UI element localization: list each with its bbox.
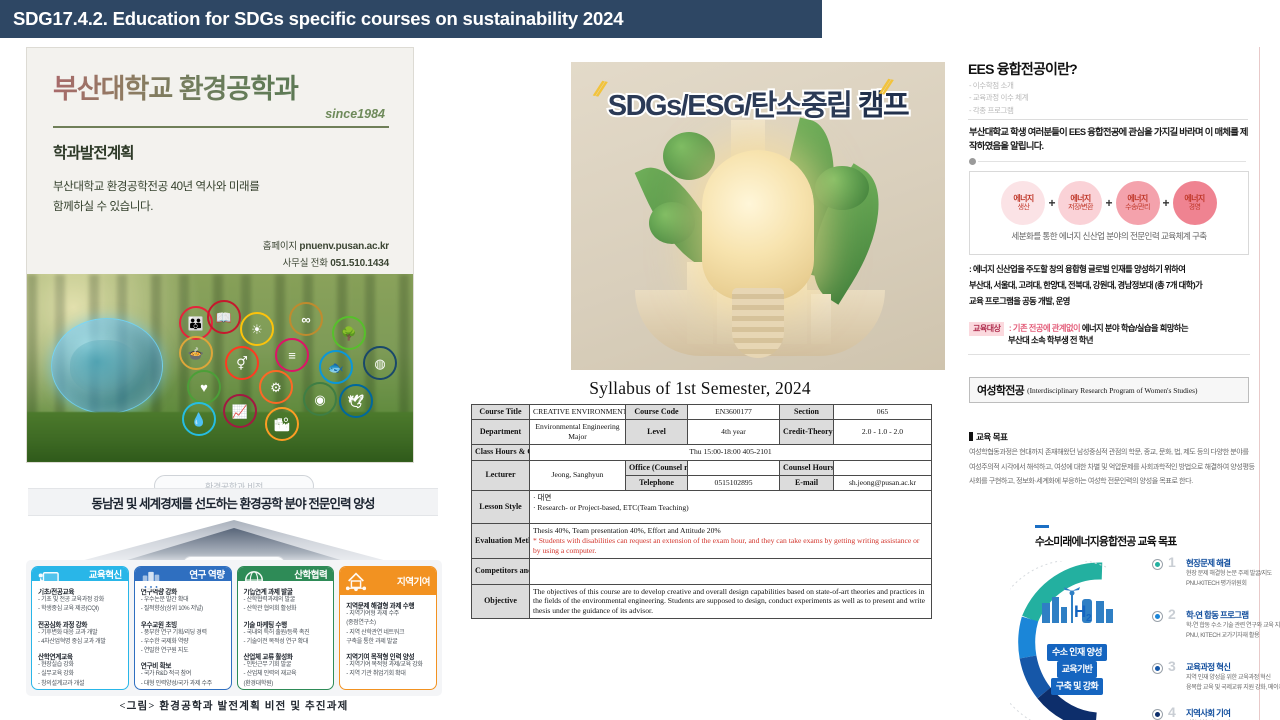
h2-goals-diagram: H 2 수소 인재 양성교육기반구축 및 강화 1현장문제 해결현장 문제 해결… — [996, 547, 1260, 720]
vision-card-bullet: (환경대학원) — [244, 680, 329, 689]
ees-divider-2 — [968, 354, 1250, 355]
level-label: Level — [626, 420, 688, 445]
table-row: Competitors and Knowledge — [472, 558, 932, 584]
sdg-goal-glyph: 🏙 — [274, 418, 291, 431]
poster-since: since1984 — [53, 107, 389, 121]
goal-body: 여성학협동과정은 현대까지 존재해왔던 남성중심적 관점의 학문, 종교, 문화… — [969, 445, 1255, 489]
ees-body-line: 교육 프로그램을 공동 개발, 운영 — [969, 293, 1255, 309]
lightbulb-icon — [702, 150, 814, 300]
lesson-style-value: · 대면 · Research- or Project-based, ETC(T… — [530, 491, 932, 524]
table-row: Objective The objectives of this course … — [472, 584, 932, 619]
h2-goal-number: 4 — [1168, 704, 1176, 720]
sdg-goal-glyph: 💧 — [191, 413, 207, 426]
ees-body-line: 부산대, 서울대, 고려대, 한양대, 전북대, 강원대, 경남정보대 (총 7… — [969, 277, 1255, 293]
sdgs-esg-camp-poster: // // SDGs/ESG/탄소중립 캠프 — [571, 62, 945, 370]
poster-body-line-2: 함께하실 수 있습니다. — [53, 197, 389, 217]
office-label: Office (Counsel room) — [626, 460, 688, 475]
h2-title-dash — [1035, 525, 1049, 528]
goal-heading-text: 교육 목표 — [976, 432, 1008, 442]
objective-value: The objectives of this course are to dev… — [530, 584, 932, 619]
competitors-value — [530, 558, 932, 584]
table-row: Evaluation Method Thesis 40%, Team prese… — [472, 524, 932, 559]
ees-sub-item: - 이수학점 소개 — [969, 80, 1028, 92]
lesson-style-line-1: · 대면 — [533, 493, 928, 503]
vision-card-bullet: 구축을 통한 과제 발굴 — [346, 638, 431, 647]
womens-studies-kr: 여성학전공 — [977, 382, 1024, 398]
sdg-goal-glyph: ♥ — [200, 381, 208, 394]
sdg-goal-3-icon: ♥ — [187, 370, 221, 404]
lesson-style-line-2: · Research- or Project-based, ETC(Team T… — [533, 503, 928, 513]
sdg-goal-glyph: 👪 — [188, 317, 204, 330]
table-row: Department Environmental Engineering Maj… — [472, 420, 932, 445]
sdg-goal-glyph: 📈 — [232, 405, 248, 418]
h2-goal-sub-2: PNU, KITECH 교가기자재 활용 — [1174, 631, 1280, 641]
camp-title-en: SDGs/ESG/탄소중립 — [608, 90, 852, 122]
department-label: Department — [472, 420, 530, 445]
h2-goal-title: 학-연 합동 프로그램 — [1174, 609, 1280, 621]
womens-studies-en: (Interdisciplinary Research Program of W… — [1027, 386, 1197, 395]
ees-energy-box: 에너지생산+에너지저장/변환+에너지수송/관리+에너지경영 세분화를 통한 에너… — [969, 171, 1249, 255]
plus-icon: + — [1163, 196, 1170, 210]
course-title-label: Course Title — [472, 405, 530, 420]
h2-goal-sub-1: 학-연 합동 수소 기술 관련 연구와 교육 지원 프로그램 개발 — [1174, 621, 1280, 631]
homepage-value: pnuenv.pusan.ac.kr — [299, 241, 389, 252]
h2-goal-dot-icon — [1152, 663, 1163, 674]
vision-card-group-title: 연구비 확보 — [141, 660, 226, 670]
sdg-goal-glyph: ⚙ — [270, 381, 282, 394]
poster-body-line-1: 부산대학교 환경공학전공 40년 역사와 미래를 — [53, 177, 389, 197]
h2-center-badges: 수소 인재 양성교육기반구축 및 강화 — [1034, 591, 1120, 699]
ees-target-text: : 기존 전공에 관계없이 에너지 분야 학습/실습을 희망하는 — [1009, 323, 1188, 333]
ees-heading: EES 융합전공이란? — [968, 59, 1077, 79]
sdg-goal-glyph: 🕊 — [348, 395, 365, 408]
sdg-goal-glyph: ≡ — [288, 349, 296, 362]
vision-card-group-title: 기술 마케팅 수행 — [244, 619, 329, 629]
vision-card-bullet: - 기초 및 전공 교육과정 강화 — [38, 596, 123, 605]
evaluation-note: * Students with disabilities can request… — [533, 536, 928, 556]
vision-card-body: 기초/전공교육- 기초 및 전공 교육과정 강화- 학생중심 교육 제공(CQI… — [32, 581, 128, 690]
vision-card-group-title: 지역기여 목적형 인력 양성 — [346, 651, 431, 661]
square-bullet-icon — [969, 432, 973, 441]
h2-goal-4: 4지역사회 기여지역사회 기여도 제고RISE 체계 기반 지산학협력센터와 협… — [1174, 707, 1280, 720]
vision-card-group: 교육혁신기초/전공교육- 기초 및 전공 교육과정 강화- 학생중심 교육 제공… — [26, 560, 442, 696]
vision-card-bullet: - 국가 R&D 적극 참여 — [141, 670, 226, 679]
circle-top-label: 에너지 — [1070, 194, 1090, 204]
ees-body-text: : 에너지 신산업을 주도할 창의 융합형 글로벌 인재를 양성하기 위하여부산… — [969, 261, 1255, 310]
ees-circle-group: 에너지생산+에너지저장/변환+에너지수송/관리+에너지경영 — [970, 172, 1248, 225]
circle-bottom-label: 생산 — [1018, 204, 1030, 213]
office-phone-value: 051.510.1434 — [330, 258, 389, 269]
ees-energy-circle-4: 에너지경영 — [1173, 181, 1217, 225]
sdg-goal-4-icon: 📖 — [207, 300, 241, 334]
vision-card-bullet: - 기술이전 목적성 연구 확대 — [244, 638, 329, 647]
vision-card-bullet: - 지역기여형 과제 수주 — [346, 610, 431, 619]
vision-card-4: 지역기여지역문제 해결형 과제 수행- 지역기여형 과제 수주(중점연구소)- … — [339, 566, 437, 690]
office-value — [688, 460, 780, 475]
vision-card-title: 연구 역량 — [189, 567, 224, 581]
credit-value: 2.0 - 1.0 - 2.0 — [834, 420, 932, 445]
ees-sub-item: - 교육과정 이수 체계 — [969, 92, 1028, 104]
vision-card-bullet: - 국내외 특허 출원/등록 촉진 — [244, 629, 329, 638]
sdg-goal-2-icon: 🍲 — [179, 336, 213, 370]
ees-body-line: : 에너지 신산업을 주도할 창의 융합형 글로벌 인재를 양성하기 위하여 — [969, 261, 1255, 277]
h2-goal-1: 1현장문제 해결현장 문제 해결형 논문 주제 발굴/지도PNU-KITECH … — [1174, 557, 1280, 589]
network-icon — [243, 570, 265, 592]
ees-target-pink: : 기존 전공에 관계없이 — [1009, 323, 1080, 333]
vision-card-title: 산학협력 — [294, 567, 327, 581]
lecturer-label: Lecturer — [472, 460, 530, 491]
syllabus-title: Syllabus of 1st Semester, 2024 — [466, 378, 934, 399]
h2-goal-sub-2: 융복합 교육 및 국제교류 지원 강화, 메이커 교육, 캡실 등 — [1174, 683, 1280, 693]
email-value: sh.jeong@pusan.ac.kr — [834, 475, 932, 490]
ees-sub-item: - 각종 프로그램 — [969, 105, 1028, 117]
syllabus-table-wrap: Course Title CREATIVE ENVIRONMENTAL ENGI… — [471, 404, 931, 619]
vision-card-2: 연구 역량연구역량 강화- 우수논문 발간 확대- 질적향상(상위 10% 저널… — [134, 566, 232, 690]
vision-card-bullet: - 우수한 국제화 역량 — [141, 638, 226, 647]
vision-card-group-title: 우수교원 초빙 — [141, 619, 226, 629]
h2-goal-number: 2 — [1168, 606, 1176, 622]
vision-card-bullet: - 학생중심 교육 제공(CQI) — [38, 605, 123, 614]
sdg-goal-7-icon: ☀ — [240, 312, 274, 346]
vision-card-bullet: - 대형 인력양성/국가 과제 수주 — [141, 680, 226, 689]
competitors-label: Competitors and Knowledge — [472, 558, 530, 584]
vision-card-body: 지역문제 해결형 과제 수행- 지역기여형 과제 수주(중점연구소)- 지역 산… — [340, 595, 436, 683]
h2-center-badge: 구축 및 강화 — [1051, 678, 1103, 695]
sdg-goal-glyph: 🐟 — [328, 361, 344, 374]
vision-card-header: 지역기여 — [340, 567, 436, 595]
table-row: Class Hours & Classroom Thu 15:00-18:00 … — [472, 445, 932, 460]
email-label: E-mail — [780, 475, 834, 490]
poster-heading: 부산대학교 환경공학과 — [53, 74, 389, 105]
table-row: Course Title CREATIVE ENVIRONMENTAL ENGI… — [472, 405, 932, 420]
objective-label: Objective — [472, 584, 530, 619]
sdg-goal-glyph: 🌳 — [341, 327, 357, 340]
vision-card-bullet: - 질적향상(상위 10% 저널) — [141, 605, 226, 614]
circle-top-label: 에너지 — [1184, 194, 1204, 204]
syllabus-table: Course Title CREATIVE ENVIRONMENTAL ENGI… — [471, 404, 932, 619]
h2-goal-number: 1 — [1168, 554, 1176, 570]
sdg-goal-glyph: ☀ — [251, 323, 263, 336]
table-row: Lecturer Jeong, Sanghyun Office (Counsel… — [472, 460, 932, 475]
target-tag-badge: 교육대상 — [969, 322, 1004, 336]
sdg-goal-glyph: ◍ — [374, 357, 385, 370]
sdg-goal-6-icon: 💧 — [182, 402, 216, 436]
h2-center-badge: 수소 인재 양성 — [1047, 644, 1107, 661]
vision-card-bullet: - 산업체 인력의 재교육 — [244, 670, 329, 679]
vision-card-bullet: - 지역 산학관연 네트워크 — [346, 629, 431, 638]
sdg-goal-17-icon: ◍ — [363, 346, 397, 380]
h2-goal-sub-1: 지역 인재 양성을 위한 교육과정 혁신 — [1174, 673, 1280, 683]
vision-card-group-title: 지역문제 해결형 과제 수행 — [346, 600, 431, 610]
sdg-goal-16-icon: 🕊 — [339, 384, 373, 418]
course-code-value: EN3600177 — [688, 405, 780, 420]
h2-goal-3: 3교육과정 혁신지역 인재 양성을 위한 교육과정 혁신융복합 교육 및 국제교… — [1174, 661, 1280, 693]
vision-card-bullet: - 풍부한 연구 기획/리딩 경력 — [141, 629, 226, 638]
h2-center-badge: 교육기반 — [1057, 661, 1098, 678]
h2-goal-dot-icon — [1152, 709, 1163, 720]
sdg-goal-8-icon: 📈 — [223, 394, 257, 428]
h2-goal-sub-2: PNU-KITECH 평가위원회 — [1174, 579, 1280, 589]
telephone-label: Telephone — [626, 475, 688, 490]
evaluation-line-1: Thesis 40%, Team presentation 40%, Effor… — [533, 526, 928, 536]
sdg-goal-11-icon: 🏙 — [265, 407, 299, 441]
circle-bottom-label: 수송/관리 — [1125, 204, 1150, 213]
section-label: Section — [780, 405, 834, 420]
camp-title: SDGs/ESG/탄소중립 캠프 — [571, 82, 945, 124]
moss-foreground — [27, 412, 414, 462]
level-value: 4th year — [688, 420, 780, 445]
credit-label: Credit-Theory – Practice — [780, 420, 834, 445]
ees-energy-circle-3: 에너지수송/관리 — [1116, 181, 1160, 225]
department-poster: 부산대학교 환경공학과 since1984 학과발전계획 부산대학교 환경공학전… — [26, 47, 414, 463]
vision-card-bullet: - 지역기여 목적형 과제/교육 강화 — [346, 661, 431, 670]
vision-card-group-title: 산학연계교육 — [38, 651, 123, 661]
h2-goal-2: 2학-연 합동 프로그램학-연 합동 수소 기술 관련 연구와 교육 지원 프로… — [1174, 609, 1280, 641]
vision-card-3: 산학협력기업연계 과제 발굴- 산학협력과제의 발굴- 산학관 협의회 활성화기… — [237, 566, 335, 690]
poster-homepage-row: 홈페이지 pnuenv.pusan.ac.kr — [53, 239, 389, 256]
ees-dot-rule — [978, 161, 1246, 162]
sdg-goal-glyph: ◉ — [314, 393, 325, 406]
poster-phone-row: 사무실 전화 051.510.1434 — [53, 256, 389, 273]
h2-goal-title: 지역사회 기여 — [1174, 707, 1280, 719]
globe-icon — [51, 318, 163, 414]
ees-box-caption: 세분화를 통한 에너지 신산업 분야의 전문인력 교육체계 구축 — [970, 230, 1248, 242]
sdg-goal-14-icon: 🐟 — [319, 350, 353, 384]
page-title: SDG17.4.2. Education for SDGs specific c… — [0, 8, 623, 30]
vision-card-bullet: - 기후변화 대응 교과 개발 — [38, 629, 123, 638]
vision-card-body: 연구역량 강화- 우수논문 발간 확대- 질적향상(상위 10% 저널)우수교원… — [135, 581, 231, 690]
vision-card-bullet: - 우수논문 발간 확대 — [141, 596, 226, 605]
bullet-dot-icon — [969, 158, 976, 165]
vision-card-bullet: - 산학관 협의회 활성화 — [244, 605, 329, 614]
vision-card-title: 지역기여 — [397, 574, 430, 588]
vision-card-header: 교육혁신 — [32, 567, 128, 581]
circle-bottom-label: 저장/변환 — [1068, 204, 1093, 213]
microscope-icon — [140, 570, 162, 592]
circle-bottom-label: 경영 — [1189, 204, 1201, 213]
screenshot-root: SDG17.4.2. Education for SDGs specific c… — [0, 0, 1280, 720]
tree-icon — [815, 166, 869, 210]
slide-header-bar: SDG17.4.2. Education for SDGs specific c… — [0, 0, 822, 38]
vision-card-bullet: - 산학협력과제의 발굴 — [244, 596, 329, 605]
tree-icon — [649, 202, 695, 244]
poster-subheading: 학과발전계획 — [53, 141, 389, 163]
course-title-value: CREATIVE ENVIRONMENTAL ENGINEERING PRO — [530, 405, 626, 420]
vision-caption: <그림> 환경공학과 발전계획 비전 및 추진과제 — [22, 698, 446, 713]
sdg-goal-glyph: 📖 — [216, 311, 232, 324]
ees-divider — [968, 119, 1248, 120]
h2-goal-title: 교육과정 혁신 — [1174, 661, 1280, 673]
circle-top-label: 에너지 — [1127, 194, 1147, 204]
ees-target-line-2: 부산대 소속 학부생 전 학년 — [1008, 334, 1093, 346]
sdg-goal-13-icon: ◉ — [303, 382, 337, 416]
vision-card-group-title: 산업체 교류 활성화 — [244, 651, 329, 661]
class-hours-value: Thu 15:00-18:00 405-2101 — [530, 445, 932, 460]
lecturer-value: Jeong, Sanghyun — [530, 460, 626, 491]
department-value: Environmental Engineering Major — [530, 420, 626, 445]
sdg-goal-10-icon: ≡ — [275, 338, 309, 372]
poster-divider — [53, 126, 389, 128]
ees-target-rest: 에너지 분야 학습/실습을 희망하는 — [1080, 323, 1188, 333]
h2-goal-number: 3 — [1168, 658, 1176, 674]
counsel-hours-label: Counsel Hours — [780, 460, 834, 475]
lesson-style-label: Lesson Style — [472, 491, 530, 524]
sdg-goal-glyph: ∞ — [301, 313, 310, 326]
building-icon — [811, 294, 831, 344]
table-row: Lesson Style · 대면 · Research- or Project… — [472, 491, 932, 524]
vision-card-body: 기업연계 과제 발굴- 산학협력과제의 발굴- 산학관 협의회 활성화기술 마케… — [238, 581, 334, 690]
vision-banner: 동남권 및 세계경제를 선도하는 환경공학 분야 전문인력 양성 — [28, 488, 438, 516]
telephone-value: 0515102895 — [688, 475, 780, 490]
vision-card-bullet: - 연밀한 연구원 지도 — [141, 647, 226, 656]
sdg-goal-glyph: ⚥ — [236, 357, 248, 370]
vision-card-bullet: (중점연구소) — [346, 619, 431, 628]
h2-goal-dot-icon — [1152, 559, 1163, 570]
homepage-label: 홈페이지 — [263, 241, 297, 252]
home-network-icon — [345, 570, 367, 592]
ees-energy-circle-1: 에너지생산 — [1001, 181, 1045, 225]
poster-body: 부산대학교 환경공학전공 40년 역사와 미래를 함께하실 수 있습니다. — [53, 177, 389, 217]
tree-icon — [663, 132, 715, 180]
h2-goal-title: 현장문제 해결 — [1174, 557, 1280, 569]
plus-icon: + — [1105, 196, 1112, 210]
poster-text-block: 부산대학교 환경공학과 since1984 학과발전계획 부산대학교 환경공학전… — [27, 48, 413, 272]
ees-major-panel: EES 융합전공이란? - 이수학점 소개- 교육과정 이수 체계- 각종 프로… — [960, 47, 1260, 720]
lightbulb-base-icon — [732, 288, 784, 358]
evaluation-label: Evaluation Method — [472, 524, 530, 559]
plus-icon: + — [1048, 196, 1055, 210]
counsel-hours-value — [834, 460, 932, 475]
evaluation-value: Thesis 40%, Team presentation 40%, Effor… — [530, 524, 932, 559]
vision-card-bullet: - 현장실습 강화 — [38, 661, 123, 670]
vision-card-header: 연구 역량 — [135, 567, 231, 581]
vision-card-bullet: - 4차산업혁명 중심 교과 개발 — [38, 638, 123, 647]
department-vision-diagram: 환경공학과 비전 동남권 및 세계경제를 선도하는 환경공학 분야 전문인력 양… — [22, 472, 446, 716]
sdg-goal-glyph: 🍲 — [188, 347, 204, 360]
goal-heading: 교육 목표 — [969, 431, 1008, 443]
office-label: 사무실 전화 — [283, 258, 328, 269]
vision-card-bullet: (BK21 four) — [141, 689, 226, 690]
sdg-goal-12-icon: ∞ — [289, 302, 323, 336]
ees-intro: 부산대학교 학생 여러분들이 EES 융합전공에 관심을 가지길 바라며 이 매… — [969, 125, 1249, 154]
vision-card-bullet: - 인턴근무 기회 발굴 — [244, 661, 329, 670]
vision-card-bullet: - 창의설계교과 개설 — [38, 680, 123, 689]
vision-card-header: 산학협력 — [238, 567, 334, 581]
sdg-goal-9-icon: ⚙ — [259, 370, 293, 404]
poster-contact: 홈페이지 pnuenv.pusan.ac.kr 사무실 전화 051.510.1… — [53, 239, 389, 272]
course-code-label: Course Code — [626, 405, 688, 420]
ees-subitems: - 이수학점 소개- 교육과정 이수 체계- 각종 프로그램 — [969, 80, 1028, 117]
class-hours-label: Class Hours & Classroom — [472, 445, 530, 460]
teacher-icon — [37, 570, 59, 592]
circle-top-label: 에너지 — [1013, 194, 1033, 204]
sdg-goals-photo: 👪🍲♥📖⚥💧☀📈⚙≡🏙∞◉🐟🌳🕊◍ — [27, 274, 414, 462]
sdg-goal-5-icon: ⚥ — [225, 346, 259, 380]
vision-card-bullet: - 실무교육 강화 — [38, 670, 123, 679]
h2-goal-dot-icon — [1152, 611, 1163, 622]
vision-card-group-title: 전공심화 과정 강화 — [38, 619, 123, 629]
vision-card-bullet: - 지역 기관 취업기회 확대 — [346, 670, 431, 679]
vision-card-1: 교육혁신기초/전공교육- 기초 및 전공 교육과정 강화- 학생중심 교육 제공… — [31, 566, 129, 690]
section-value: 065 — [834, 405, 932, 420]
womens-studies-box: 여성학전공 (Interdisciplinary Research Progra… — [969, 377, 1249, 403]
ees-energy-circle-2: 에너지저장/변환 — [1058, 181, 1102, 225]
sdg-goal-15-icon: 🌳 — [332, 316, 366, 350]
vision-card-title: 교육혁신 — [89, 567, 122, 581]
h2-goal-sub-1: 현장 문제 해결형 논문 주제 발굴/지도 — [1174, 569, 1280, 579]
